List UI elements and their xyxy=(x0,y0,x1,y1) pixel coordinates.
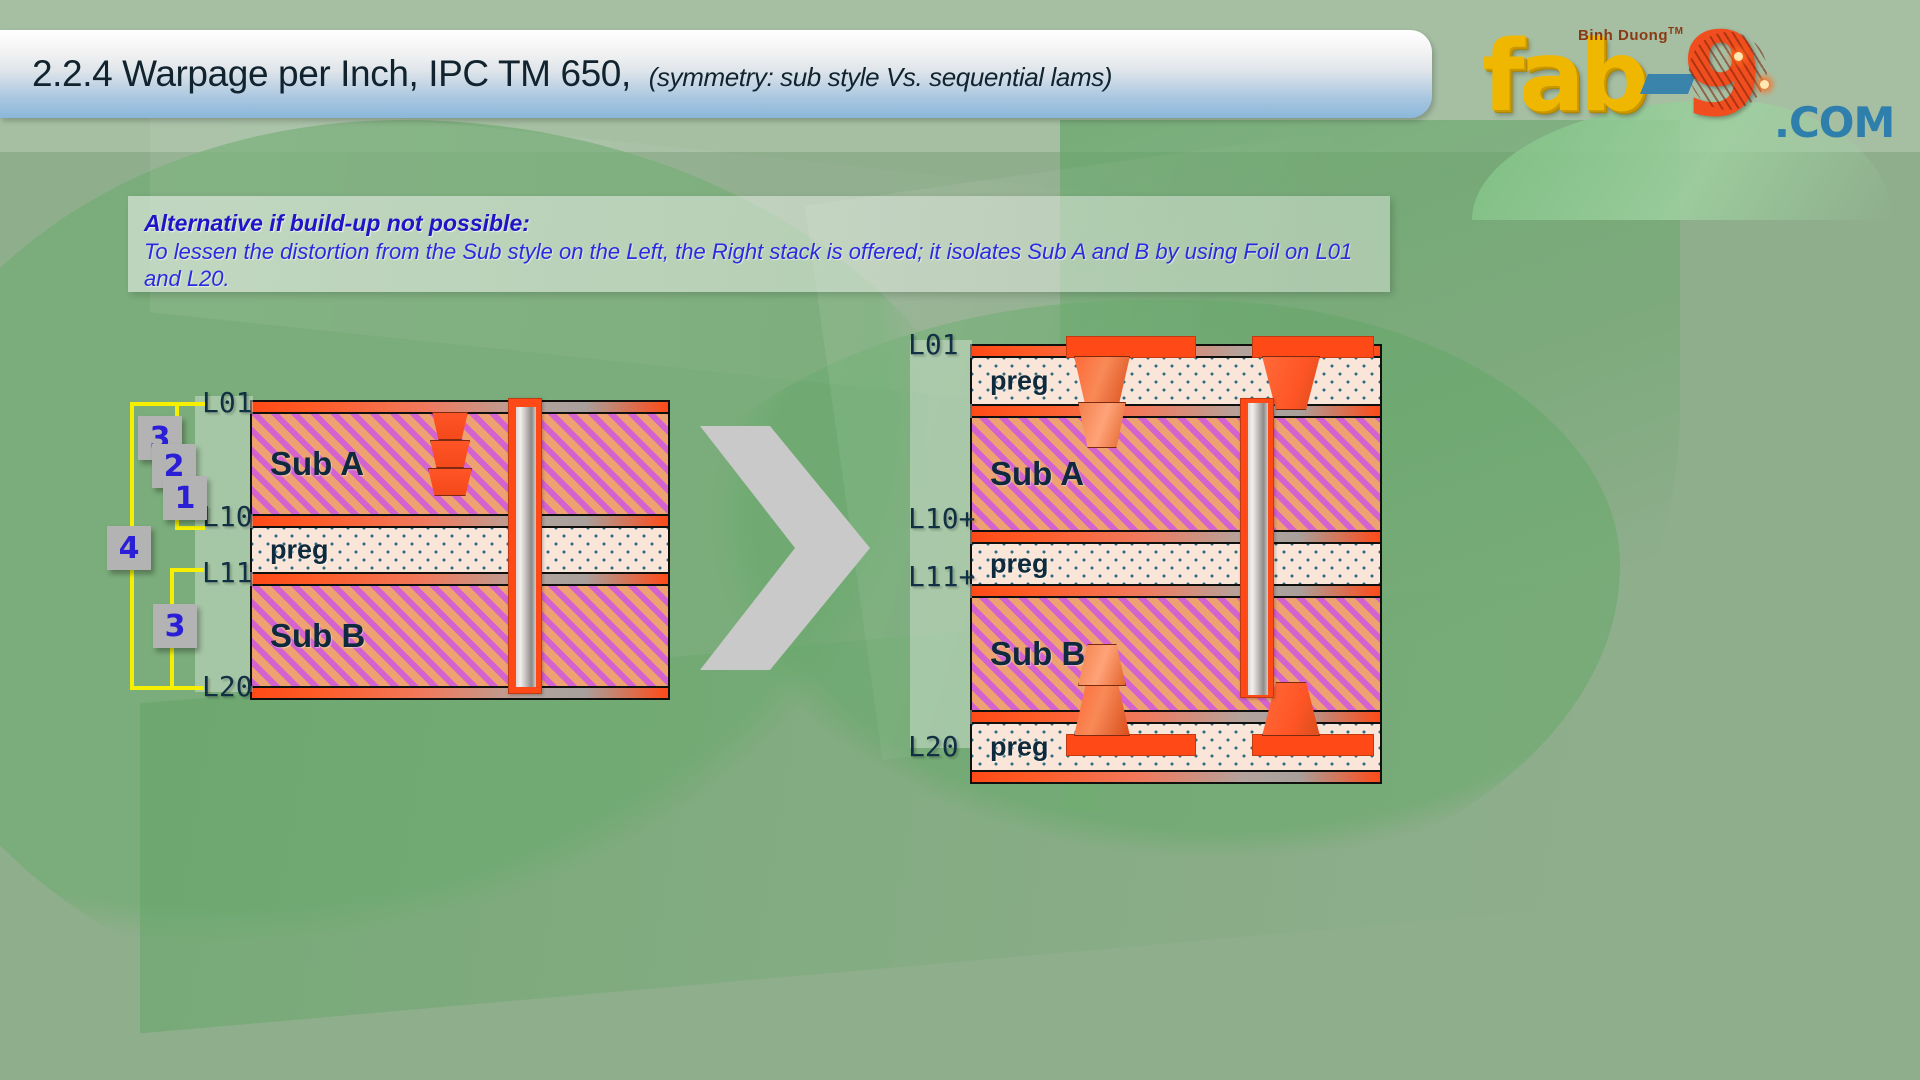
left-stackup-diagram: Sub A preg Sub B L01 L10 L11 L20 xyxy=(250,400,670,700)
right-layer-copper-l10plus xyxy=(970,530,1382,544)
right-layer-core-subb: Sub B xyxy=(970,598,1382,710)
right-core-suba-label: Sub A xyxy=(990,455,1084,493)
right-layer-name-l10plus: L10+ xyxy=(908,502,975,535)
right-layer-name-l11plus: L11+ xyxy=(908,560,975,593)
callout-number-4: 4 xyxy=(107,526,151,570)
logo-nine-glyph: 9 xyxy=(1682,18,1763,134)
left-layer-name-l20: L20 xyxy=(202,670,253,703)
right-top-pad-right xyxy=(1252,336,1374,358)
note-heading: Alternative if build-up not possible: xyxy=(144,210,1370,237)
left-layer-copper-l01 xyxy=(250,400,670,414)
left-through-hole-via xyxy=(508,398,542,694)
right-bottom-pad-right xyxy=(1252,734,1374,756)
logo-domain-suffix: .COM xyxy=(1774,98,1894,147)
right-core-subb-label: Sub B xyxy=(990,635,1085,673)
page-title-subtitle: (symmetry: sub style Vs. sequential lams… xyxy=(649,62,1112,92)
right-layer-prepreg-top: preg xyxy=(970,358,1382,404)
right-through-hole-via xyxy=(1240,398,1274,698)
left-core-suba-label: Sub A xyxy=(270,445,364,483)
right-top-pad-left xyxy=(1066,336,1196,358)
page-title-main: 2.2.4 Warpage per Inch, IPC TM 650, xyxy=(32,53,631,94)
left-layer-copper-l11 xyxy=(250,572,670,586)
right-layer-prepreg-mid: preg xyxy=(970,544,1382,584)
note-body-text: To lessen the distortion from the Sub st… xyxy=(144,239,1370,293)
logo-tagline-text: Binh Duong xyxy=(1578,27,1668,44)
right-stackup-diagram: preg Sub A preg Sub B preg L01 L10+ L11+… xyxy=(970,344,1382,784)
left-via-barrel-plating xyxy=(516,407,536,687)
right-prepreg-top-label: preg xyxy=(990,366,1049,397)
logo-tagline: Binh DuongTM xyxy=(1578,26,1683,44)
callout-number-1: 1 xyxy=(163,476,207,520)
right-prepreg-bottom-label: preg xyxy=(990,732,1049,763)
logo-led-dot-1 xyxy=(1734,52,1743,61)
left-layer-copper-l10 xyxy=(250,514,670,528)
trademark-icon: TM xyxy=(1668,26,1683,37)
slide-title-bar: 2.2.4 Warpage per Inch, IPC TM 650, (sym… xyxy=(0,30,1432,118)
right-layer-copper-foil-bottom xyxy=(970,710,1382,724)
left-layer-prepreg: preg xyxy=(250,528,670,572)
logo-led-dot-2 xyxy=(1760,80,1769,89)
left-microvia-level-3 xyxy=(428,468,472,496)
right-layer-core-suba: Sub A xyxy=(970,418,1382,530)
right-layer-copper-foil-top xyxy=(970,404,1382,418)
left-prepreg-label: preg xyxy=(270,535,329,566)
left-layer-core-subb: Sub B xyxy=(250,586,670,686)
callout-number-3-bottom: 3 xyxy=(153,604,197,648)
right-layer-copper-l20 xyxy=(970,770,1382,784)
fab9-logo[interactable]: fab 9 Binh DuongTM .COM xyxy=(1482,14,1882,154)
right-bottom-pad-left xyxy=(1066,734,1196,756)
page-title: 2.2.4 Warpage per Inch, IPC TM 650, (sym… xyxy=(0,53,1112,95)
left-layer-name-l10: L10 xyxy=(202,500,253,533)
note-callout-box: Alternative if build-up not possible: To… xyxy=(128,196,1390,292)
left-layer-name-l11: L11 xyxy=(202,556,253,589)
chevron-right-arrow xyxy=(690,398,880,698)
left-core-subb-label: Sub B xyxy=(270,617,365,655)
right-layer-label-strip xyxy=(910,340,972,748)
right-layer-name-l20: L20 xyxy=(908,730,959,763)
right-via-barrel-plating xyxy=(1248,403,1268,695)
left-layer-name-l01: L01 xyxy=(202,386,253,419)
right-layer-name-l01: L01 xyxy=(908,328,959,361)
left-layer-copper-l20 xyxy=(250,686,670,700)
left-microvia-level-2 xyxy=(430,440,470,468)
right-prepreg-mid-label: preg xyxy=(990,549,1049,580)
right-layer-copper-l11plus xyxy=(970,584,1382,598)
